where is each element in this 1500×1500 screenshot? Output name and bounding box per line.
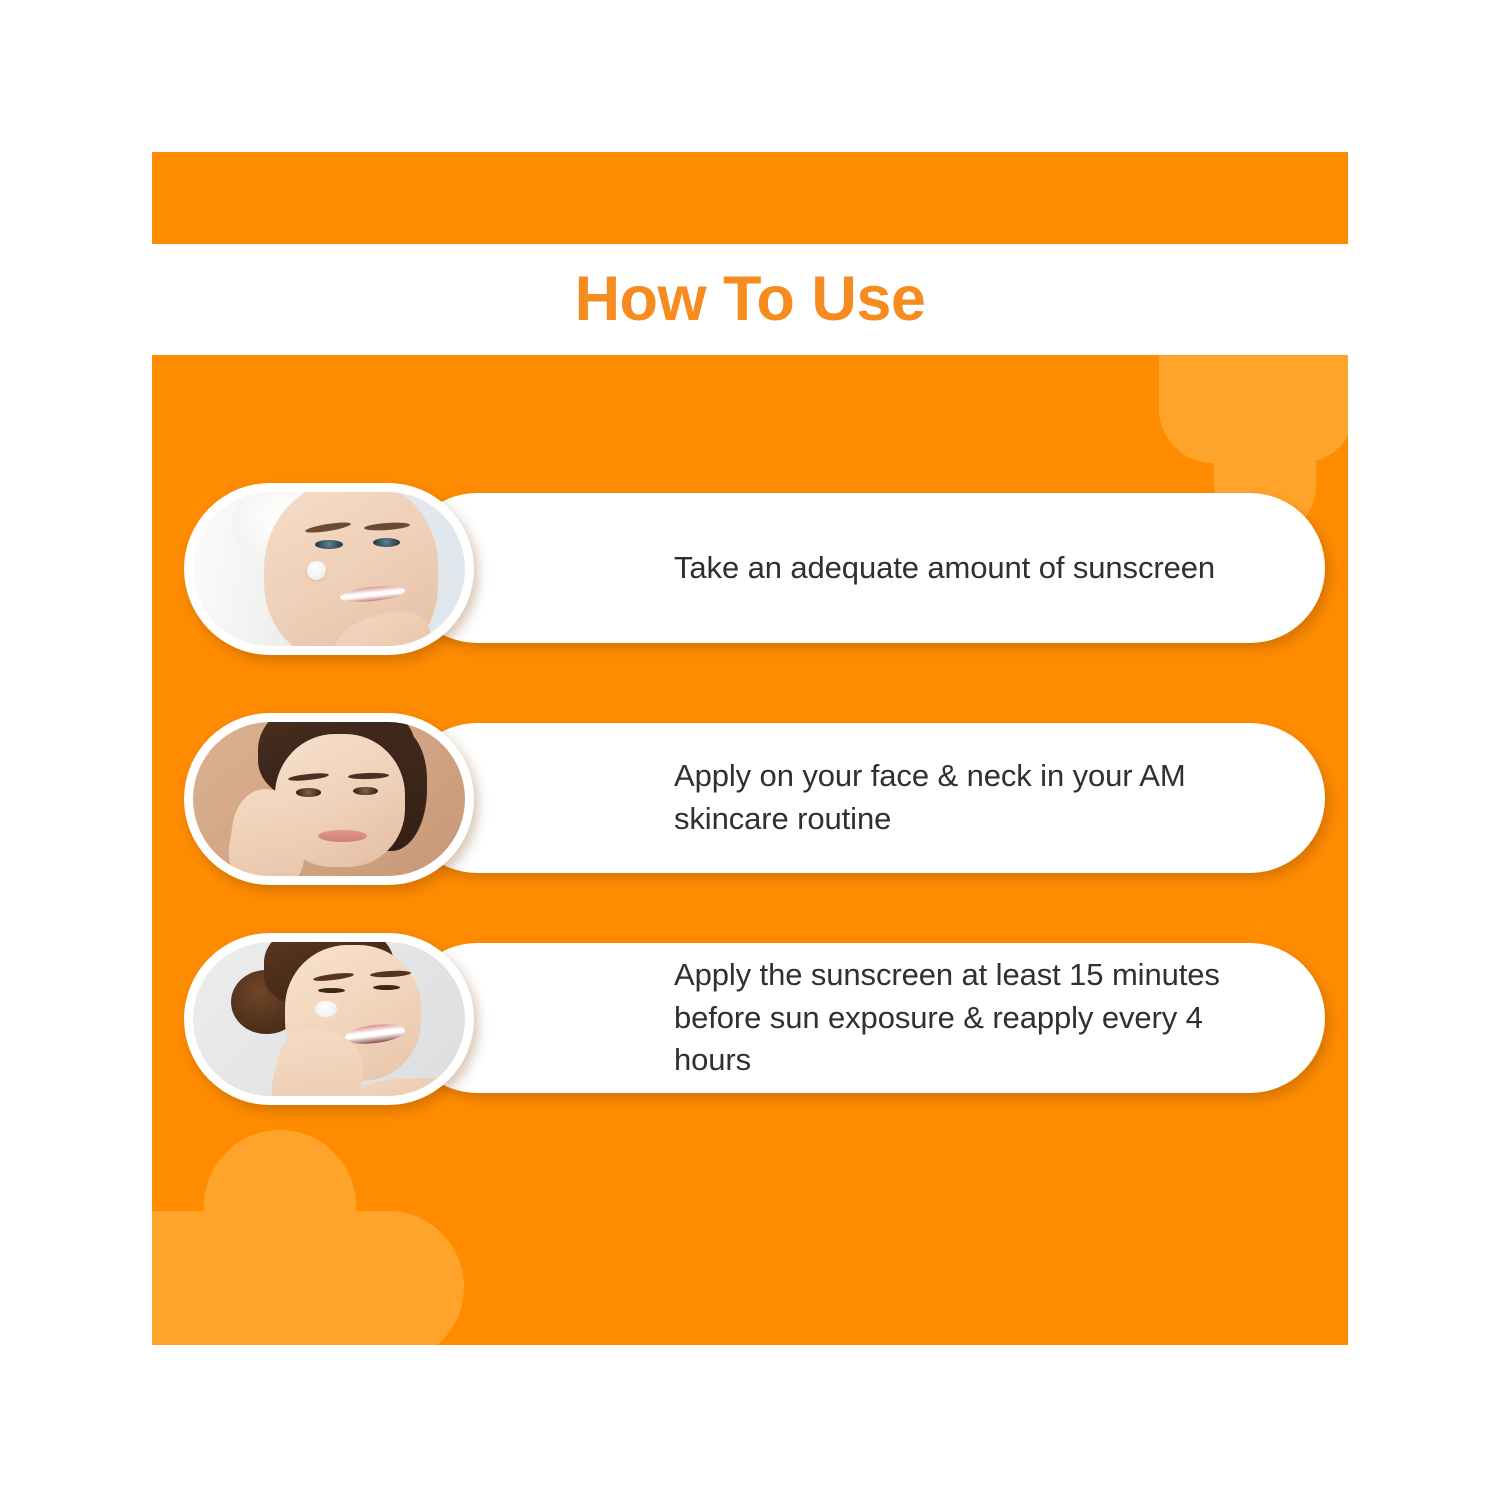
step-image-frame (184, 933, 474, 1105)
decorative-cross-bottom-left-vertical-bottom (204, 1315, 356, 1345)
woman-towel-turban-applying-cream-photo (193, 492, 465, 646)
smiling-woman-cream-on-cheek-photo (193, 942, 465, 1096)
page-title: How To Use (152, 258, 1348, 340)
eye-left (296, 788, 320, 796)
step-image-frame (184, 713, 474, 885)
eye-right (353, 787, 377, 795)
step-text-pill: Apply the sunscreen at least 15 minutes … (402, 943, 1325, 1093)
lips-shape (318, 830, 367, 842)
decorative-cross-top-right-horizontal (1159, 355, 1348, 463)
eye-right (373, 985, 400, 990)
step-text: Take an adequate amount of sunscreen (674, 547, 1215, 590)
woman-touching-face-tan-background-photo (193, 722, 465, 876)
step-card: Take an adequate amount of sunscreen (152, 483, 1348, 658)
step-text-pill: Take an adequate amount of sunscreen (402, 493, 1325, 643)
top-orange-band (152, 152, 1348, 244)
how-to-use-infographic: How To Use Take an adequate amount of su… (0, 0, 1500, 1500)
step-text: Apply on your face & neck in your AM ski… (674, 755, 1285, 841)
step-image-frame (184, 483, 474, 655)
step-text-pill: Apply on your face & neck in your AM ski… (402, 723, 1325, 873)
step-card: Apply the sunscreen at least 15 minutes … (152, 933, 1348, 1108)
steps-panel: Take an adequate amount of sunscreen (152, 355, 1348, 1345)
step-card: Apply on your face & neck in your AM ski… (152, 713, 1348, 888)
eye-left (315, 540, 342, 549)
step-text: Apply the sunscreen at least 15 minutes … (674, 954, 1285, 1082)
